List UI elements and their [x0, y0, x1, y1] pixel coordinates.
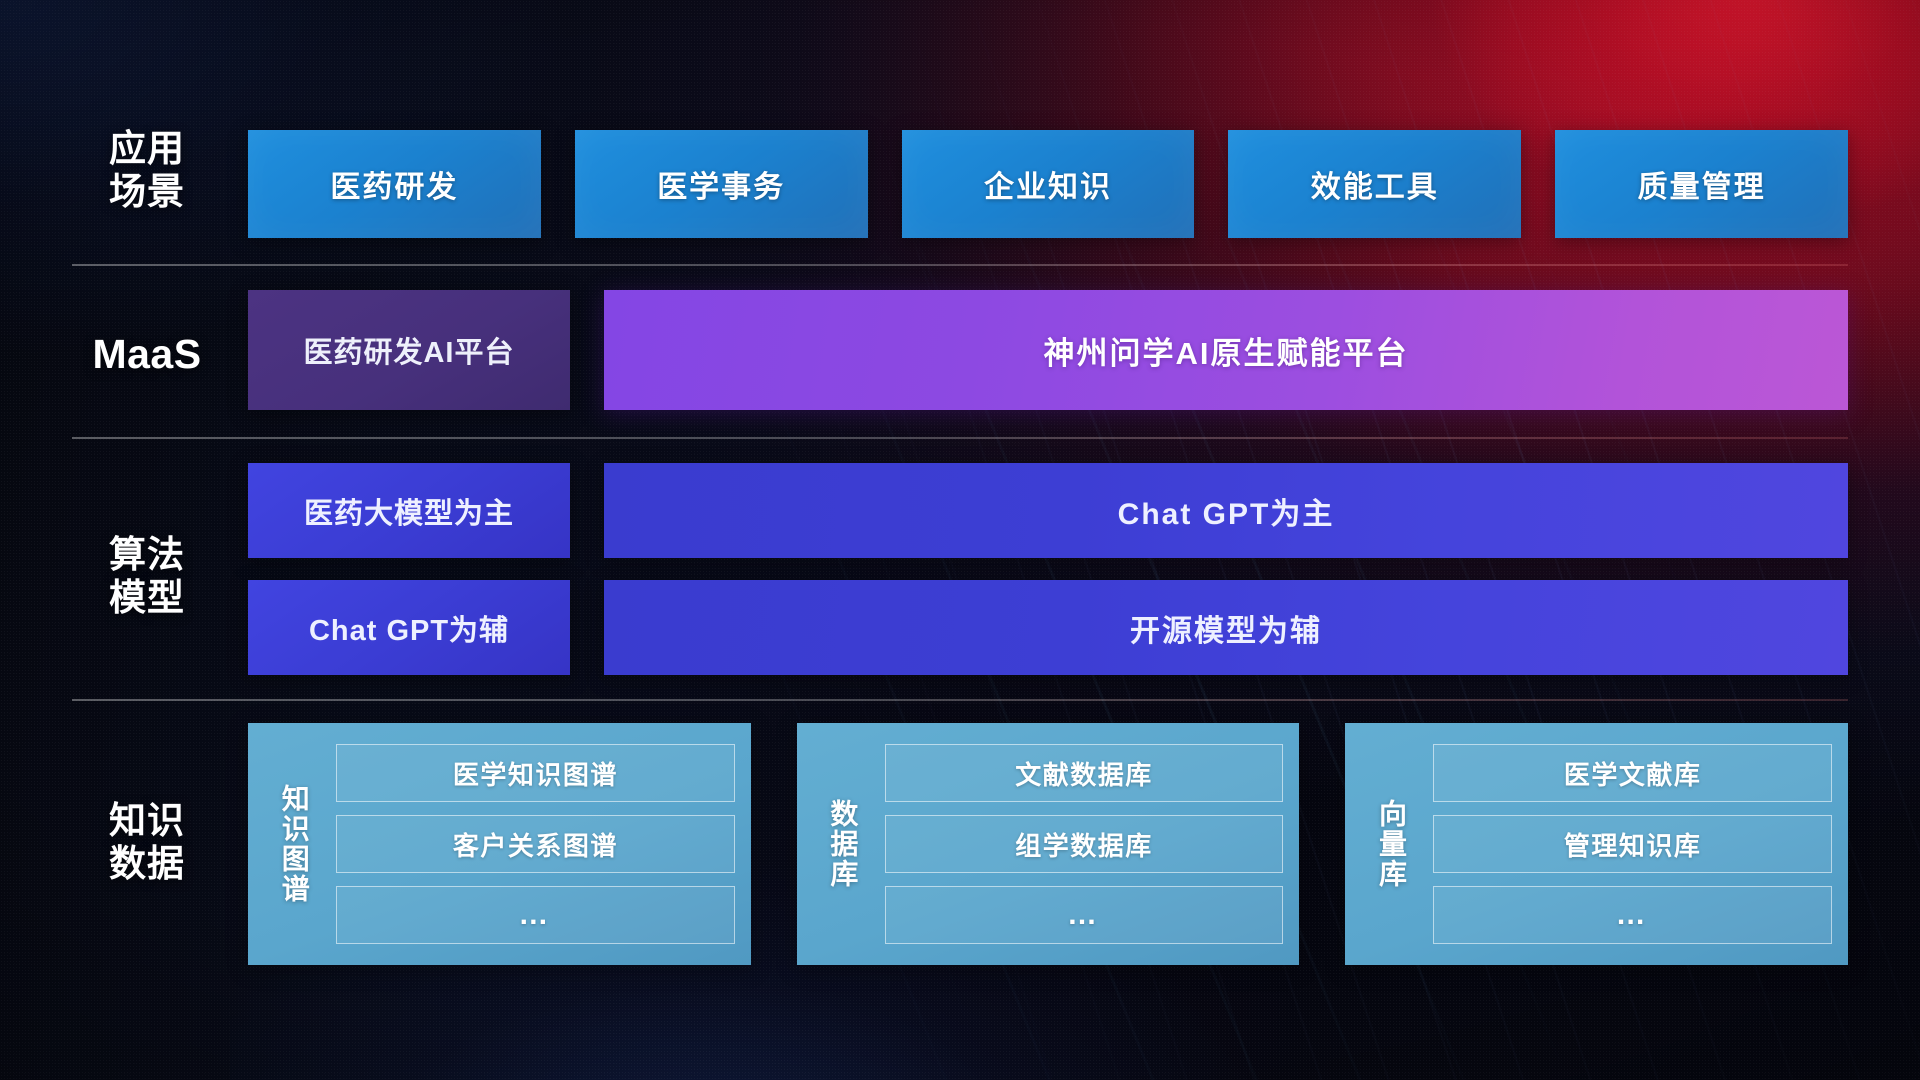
tier-label-maas-text: MaaS: [72, 331, 222, 379]
knowledge-group-vector-store: 向量库 医学文献库 管理知识库 …: [1345, 723, 1848, 965]
divider-algorithm-knowledge: [72, 699, 1848, 701]
application-scenario-row: 医药研发 医学事务 企业知识 效能工具 质量管理: [248, 130, 1848, 238]
tier-label-application-line2: 场景: [72, 171, 222, 214]
knowledge-item-more-knowledge-graph[interactable]: …: [336, 886, 735, 944]
knowledge-item-omics-database[interactable]: 组学数据库: [885, 815, 1284, 873]
algorithm-model-row: 医药大模型为主 Chat GPT为主 Chat GPT为辅 开源模型为辅: [248, 463, 1848, 675]
tier-label-knowledge-line2: 数据: [72, 843, 222, 886]
knowledge-item-more-vector-store[interactable]: …: [1433, 886, 1832, 944]
knowledge-item-customer-relation-graph[interactable]: 客户关系图谱: [336, 815, 735, 873]
tier-label-application: 应用 场景: [72, 128, 222, 214]
application-box-enterprise-knowledge[interactable]: 企业知识: [902, 130, 1195, 238]
knowledge-items-database: 文献数据库 组学数据库 …: [873, 735, 1284, 953]
knowledge-group-knowledge-graph: 知识图谱 医学知识图谱 客户关系图谱 …: [248, 723, 751, 965]
application-box-efficiency-tools[interactable]: 效能工具: [1228, 130, 1521, 238]
knowledge-group-label-knowledge-graph: 知识图谱: [264, 735, 324, 953]
maas-box-shenzhou-wenxue-platform[interactable]: 神州问学AI原生赋能平台: [604, 290, 1848, 410]
algorithm-box-medicine-llm-primary[interactable]: 医药大模型为主: [248, 463, 570, 558]
architecture-diagram: 应用 场景 医药研发 医学事务 企业知识 效能工具 质量管理 MaaS 医药研发…: [0, 0, 1920, 1080]
tier-label-application-line1: 应用: [72, 128, 222, 171]
knowledge-item-medical-knowledge-graph[interactable]: 医学知识图谱: [336, 744, 735, 802]
divider-maas-algorithm: [72, 437, 1848, 439]
maas-box-medicine-ai-platform[interactable]: 医药研发AI平台: [248, 290, 570, 410]
knowledge-items-vector-store: 医学文献库 管理知识库 …: [1421, 735, 1832, 953]
divider-application-maas: [72, 264, 1848, 266]
knowledge-group-database: 数据库 文献数据库 组学数据库 …: [797, 723, 1300, 965]
tier-label-algorithm-line2: 模型: [72, 577, 222, 620]
algorithm-box-chatgpt-primary[interactable]: Chat GPT为主: [604, 463, 1848, 558]
application-box-medical-affairs[interactable]: 医学事务: [575, 130, 868, 238]
knowledge-item-medical-literature-store[interactable]: 医学文献库: [1433, 744, 1832, 802]
maas-row: 医药研发AI平台 神州问学AI原生赋能平台: [248, 290, 1848, 410]
tier-label-knowledge: 知识 数据: [72, 800, 222, 886]
knowledge-group-label-database: 数据库: [813, 735, 873, 953]
algorithm-subrow-secondary: Chat GPT为辅 开源模型为辅: [248, 580, 1848, 675]
knowledge-items-knowledge-graph: 医学知识图谱 客户关系图谱 …: [324, 735, 735, 953]
tier-label-knowledge-line1: 知识: [72, 800, 222, 843]
tier-label-algorithm: 算法 模型: [72, 534, 222, 620]
tier-label-algorithm-line1: 算法: [72, 534, 222, 577]
knowledge-group-label-vector-store: 向量库: [1361, 735, 1421, 953]
knowledge-item-more-database[interactable]: …: [885, 886, 1284, 944]
knowledge-item-management-knowledge-store[interactable]: 管理知识库: [1433, 815, 1832, 873]
tier-label-maas: MaaS: [72, 331, 222, 379]
application-box-medicine-rd[interactable]: 医药研发: [248, 130, 541, 238]
knowledge-data-row: 知识图谱 医学知识图谱 客户关系图谱 … 数据库 文献数据库 组学数据库 … 向…: [248, 723, 1848, 965]
algorithm-subrow-primary: 医药大模型为主 Chat GPT为主: [248, 463, 1848, 558]
knowledge-item-literature-database[interactable]: 文献数据库: [885, 744, 1284, 802]
algorithm-box-opensource-secondary[interactable]: 开源模型为辅: [604, 580, 1848, 675]
application-box-quality-management[interactable]: 质量管理: [1555, 130, 1848, 238]
algorithm-box-chatgpt-secondary[interactable]: Chat GPT为辅: [248, 580, 570, 675]
